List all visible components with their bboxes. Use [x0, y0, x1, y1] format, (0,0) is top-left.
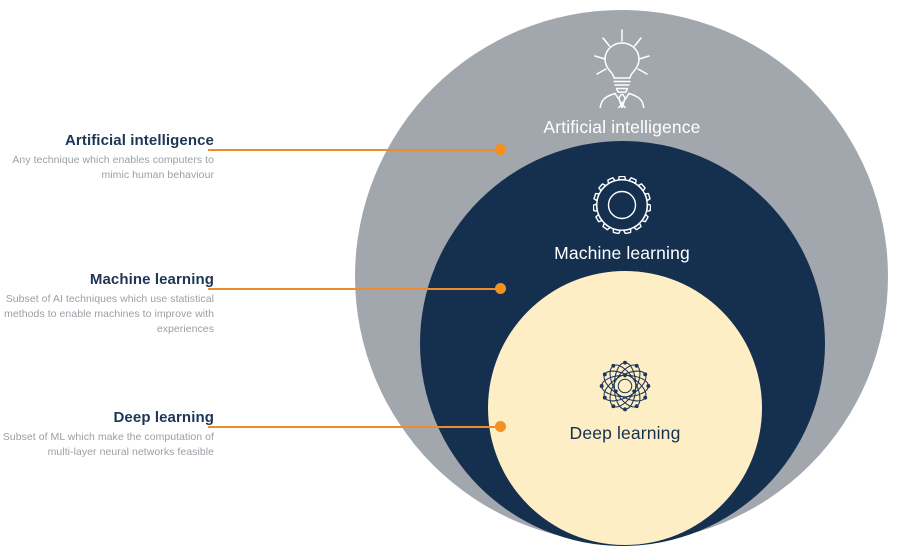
callout-title-artificial-intelligence: Artificial intelligence: [0, 132, 214, 151]
callout-title-deep-learning: Deep learning: [0, 409, 214, 428]
leader-line-deep-learning: [208, 426, 501, 428]
callout-deep-learning: Deep learning Subset of ML which make th…: [0, 409, 214, 460]
leader-line-artificial-intelligence: [208, 149, 501, 151]
leader-dot-machine-learning[interactable]: [495, 283, 506, 294]
diagram-canvas: Artificial intelligence: [0, 0, 905, 551]
callout-description-machine-learning: Subset of AI techniques which use statis…: [0, 292, 214, 338]
leader-dot-deep-learning[interactable]: [495, 421, 506, 432]
leader-line-machine-learning: [208, 288, 501, 290]
callout-artificial-intelligence: Artificial intelligence Any technique wh…: [0, 132, 214, 183]
callout-description-artificial-intelligence: Any technique which enables computers to…: [0, 153, 214, 183]
leader-dot-artificial-intelligence[interactable]: [495, 144, 506, 155]
callout-title-machine-learning: Machine learning: [0, 271, 214, 290]
callout-machine-learning: Machine learning Subset of AI techniques…: [0, 271, 214, 337]
ring-deep-learning[interactable]: [488, 271, 762, 545]
callout-description-deep-learning: Subset of ML which make the computation …: [0, 430, 214, 460]
